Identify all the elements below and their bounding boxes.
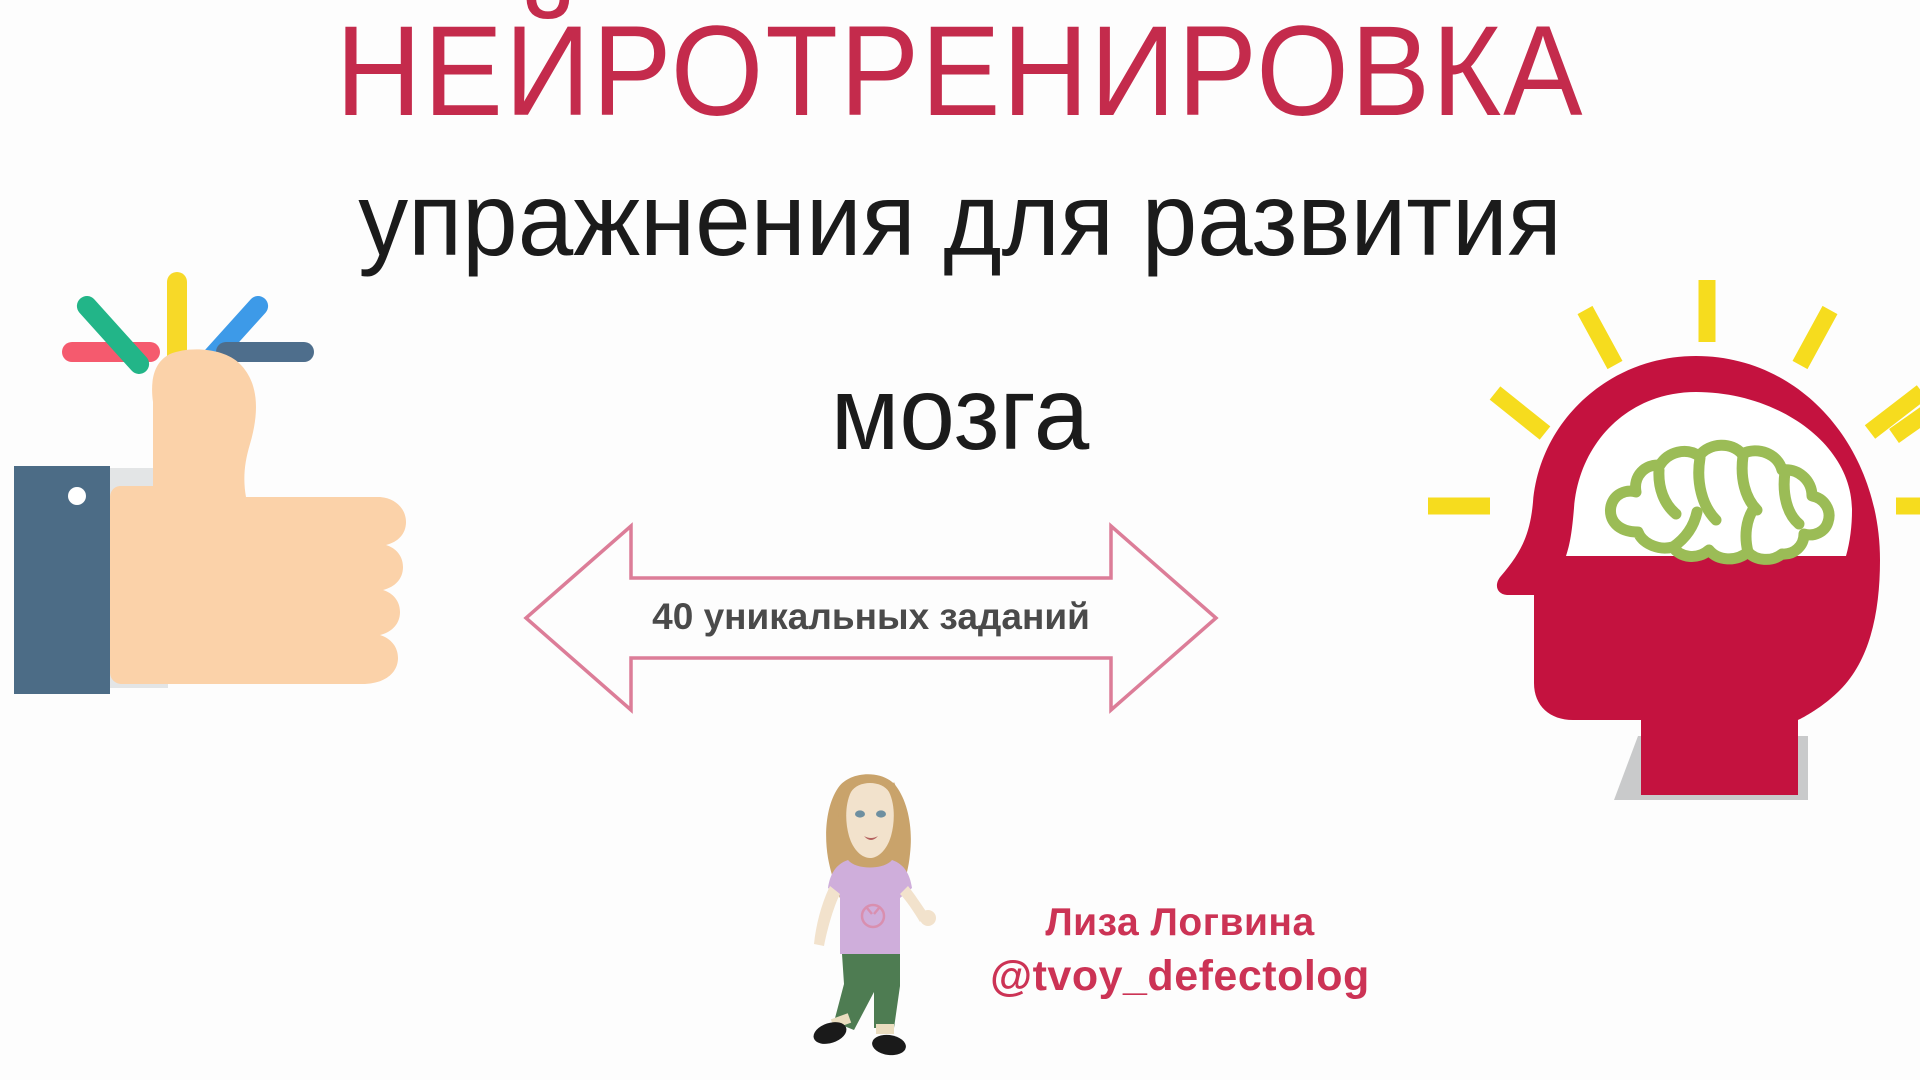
eye-right [876,810,886,817]
hand-right [920,910,936,926]
hand-shape [110,349,406,684]
author-credit: Лиза Логвина @tvoy_defectolog [960,900,1400,1002]
arrow-banner: 40 уникальных заданий [516,518,1226,718]
thumbs-up-icon [0,258,464,708]
page-title: НЕЙРОТРЕНИРОВКА [67,8,1853,136]
eye-left [855,810,865,817]
sleeve-cuff [14,466,110,694]
arm-left [814,886,840,946]
brain-head-icon [1400,270,1920,830]
cuff-button-icon [68,487,86,505]
arrow-label: 40 уникальных заданий [516,596,1226,638]
subtitle-line-1: упражнения для развития [38,168,1881,272]
author-handle: @tvoy_defectolog [960,951,1400,1003]
walking-girl-icon [788,748,948,1060]
shirt [828,860,912,954]
shoe-right [871,1033,907,1058]
poster-canvas: НЕЙРОТРЕНИРОВКА упражнения для развития … [0,0,1920,1080]
author-name: Лиза Логвина [960,900,1400,947]
ray-green [73,292,153,378]
ankle-right [876,1024,894,1034]
